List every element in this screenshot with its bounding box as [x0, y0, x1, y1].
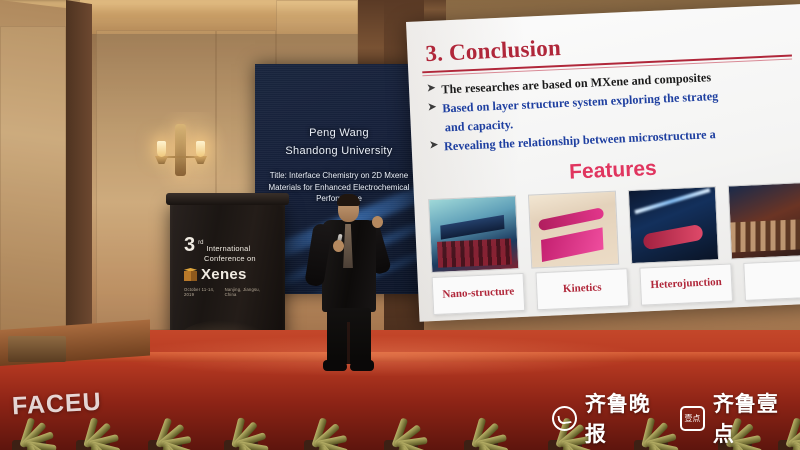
- wall-panel: [0, 26, 66, 336]
- screen-affiliation: Shandong University: [255, 144, 423, 159]
- qilu-yidian-text: 齐鲁壹点: [713, 388, 800, 448]
- projected-slide: 3. Conclusion ➤ The researches are based…: [406, 4, 800, 322]
- faceu-watermark: FACEU: [11, 388, 102, 422]
- bullet-arrow-icon: ➤: [429, 137, 438, 156]
- presenter-right-hand: [372, 216, 383, 228]
- cube-icon: [184, 268, 197, 281]
- sconce-lamp: [157, 141, 166, 157]
- stage-plant: [366, 392, 436, 450]
- lectern-signage: 3 rd International Conference on Xenes O…: [184, 236, 272, 297]
- fourth-thumbnail-cropped: [728, 182, 800, 260]
- wall-sconce-backplate: [175, 124, 186, 176]
- stage-side-box: [8, 336, 66, 362]
- conference-line-conference: Conference on: [204, 254, 272, 263]
- stage-plant: [446, 392, 516, 450]
- feature-caption: Heterojunction: [639, 263, 733, 305]
- presenter-left-shoe: [323, 360, 347, 371]
- conference-ordinal-suffix: rd: [198, 240, 203, 246]
- conference-ordinal: 3: [184, 236, 195, 255]
- wall-corner-trim: [66, 0, 92, 344]
- feature-caption: Nano-structure: [432, 273, 526, 315]
- conference-event-name: Xenes: [201, 266, 247, 283]
- presenter-right-shoe: [350, 360, 374, 371]
- kinetics-thumbnail: [528, 191, 619, 269]
- presenter-leg-gap: [347, 322, 350, 364]
- heterojunction-thumbnail: [628, 186, 719, 264]
- bullet-arrow-icon: ➤: [428, 100, 437, 119]
- conference-photo: Peng Wang Shandong University Title: Int…: [0, 0, 800, 450]
- qilu-logo-icon: [552, 406, 577, 431]
- publisher-watermark: 齐鲁晚报 壹点 齐鲁壹点: [552, 388, 800, 448]
- nanostructure-thumbnail: [428, 195, 519, 273]
- conference-dates: October 11-14, 2019: [184, 287, 225, 297]
- presenter: [300, 196, 396, 378]
- qilu-evening-news-text: 齐鲁晚报: [585, 388, 672, 448]
- wall-panel: [276, 0, 358, 66]
- conference-location: Nanjing, Jiangsu, China: [225, 287, 272, 297]
- feature-caption: Kinetics: [535, 268, 629, 310]
- bullet-arrow-icon: ➤: [427, 81, 436, 100]
- conference-line-international: International: [206, 244, 250, 253]
- qilu-yidian-badge-icon: 壹点: [680, 406, 705, 431]
- presenter-left-hand: [333, 240, 344, 252]
- stage-plant: [130, 392, 200, 450]
- sconce-lamp: [196, 141, 205, 157]
- feature-caption: [743, 259, 800, 301]
- screen-speaker-name: Peng Wang: [255, 126, 423, 141]
- stage-plant: [286, 392, 356, 450]
- stage-plant: [206, 392, 276, 450]
- presenter-hair: [337, 194, 360, 206]
